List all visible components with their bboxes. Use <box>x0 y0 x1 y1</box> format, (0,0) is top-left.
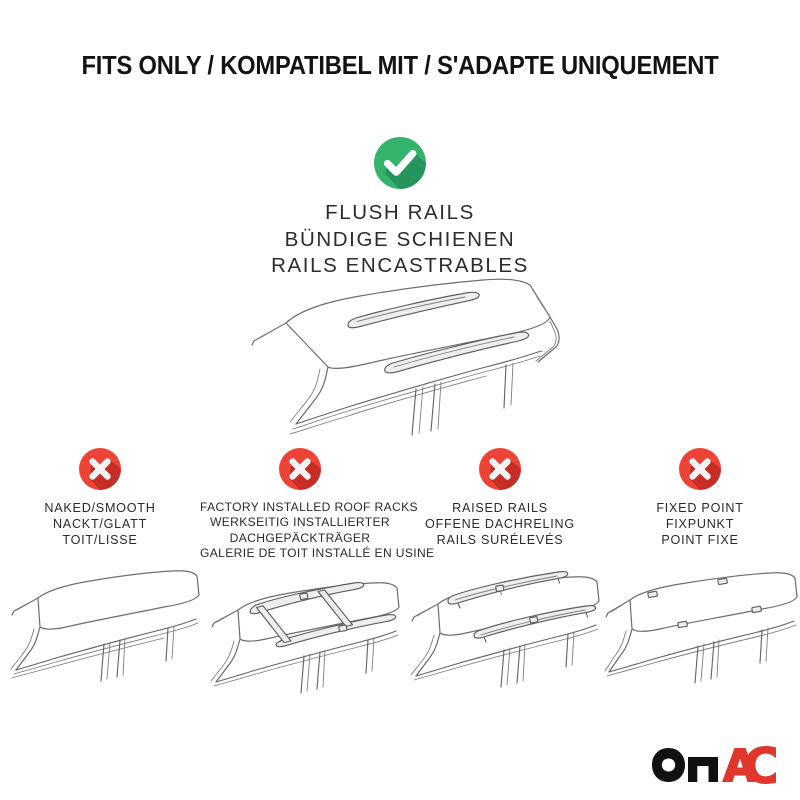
red-x-circle-icon <box>278 447 322 491</box>
option-label-en: NAKED/SMOOTH <box>0 500 200 516</box>
car-roof-flush-rails-illustration <box>230 268 570 448</box>
green-check-circle-icon <box>373 136 427 190</box>
option-label-fr: RAILS SURÉLEVÉS <box>400 532 600 548</box>
header: FITS ONLY / KOMPATIBEL MIT / S'ADAPTE UN… <box>0 52 800 81</box>
red-x-circle-icon <box>478 447 522 491</box>
option-label-de: NACKT/GLATT <box>0 516 200 532</box>
option-label-de: FIXPUNKT <box>600 516 800 532</box>
red-x-circle-icon <box>78 447 122 491</box>
omac-logo <box>650 744 778 784</box>
option-label-de-1: WERKSEITIG INSTALLIERTER <box>200 515 400 530</box>
car-roof-naked-smooth-illustration <box>0 560 200 695</box>
option-label-fr: POINT FIXE <box>600 532 800 548</box>
car-roof-raised-rails-illustration <box>400 560 600 695</box>
option-label-fr: TOIT/LISSE <box>0 532 200 548</box>
option-label-fr: GALERIE DE TOIT INSTALLÉ EN USINE <box>200 546 400 561</box>
car-roof-fixed-point-illustration <box>600 560 800 695</box>
option-raised-rails-labels: RAISED RAILS OFFENE DACHRELING RAILS SUR… <box>400 500 600 558</box>
option-fixed-point-labels: FIXED POINT FIXPUNKT POINT FIXE <box>600 500 800 558</box>
incompatible-section: NAKED/SMOOTH NACKT/GLATT TOIT/LISSE <box>0 447 800 699</box>
page-title: FITS ONLY / KOMPATIBEL MIT / S'ADAPTE UN… <box>28 52 772 81</box>
compatible-label-en: FLUSH RAILS <box>0 200 800 227</box>
option-label-en: RAISED RAILS <box>400 500 600 516</box>
compatible-section: FLUSH RAILS BÜNDIGE SCHIENEN RAILS ENCAS… <box>0 136 800 280</box>
option-fixed-point: FIXED POINT FIXPUNKT POINT FIXE <box>600 447 800 699</box>
red-x-circle-icon <box>678 447 722 491</box>
compatible-label-de: BÜNDIGE SCHIENEN <box>0 227 800 254</box>
option-label-de: OFFENE DACHRELING <box>400 516 600 532</box>
option-raised-rails: RAISED RAILS OFFENE DACHRELING RAILS SUR… <box>400 447 600 699</box>
option-label-de-2: DACHGEPÄCKTRÄGER <box>200 531 400 546</box>
option-label-en: FACTORY INSTALLED ROOF RACKS <box>200 500 400 515</box>
car-roof-factory-racks-illustration <box>200 564 400 699</box>
option-factory-racks: FACTORY INSTALLED ROOF RACKS WERKSEITIG … <box>200 447 400 699</box>
option-factory-racks-labels: FACTORY INSTALLED ROOF RACKS WERKSEITIG … <box>200 500 400 562</box>
option-label-en: FIXED POINT <box>600 500 800 516</box>
option-naked-smooth: NAKED/SMOOTH NACKT/GLATT TOIT/LISSE <box>0 447 200 699</box>
option-naked-smooth-labels: NAKED/SMOOTH NACKT/GLATT TOIT/LISSE <box>0 500 200 558</box>
